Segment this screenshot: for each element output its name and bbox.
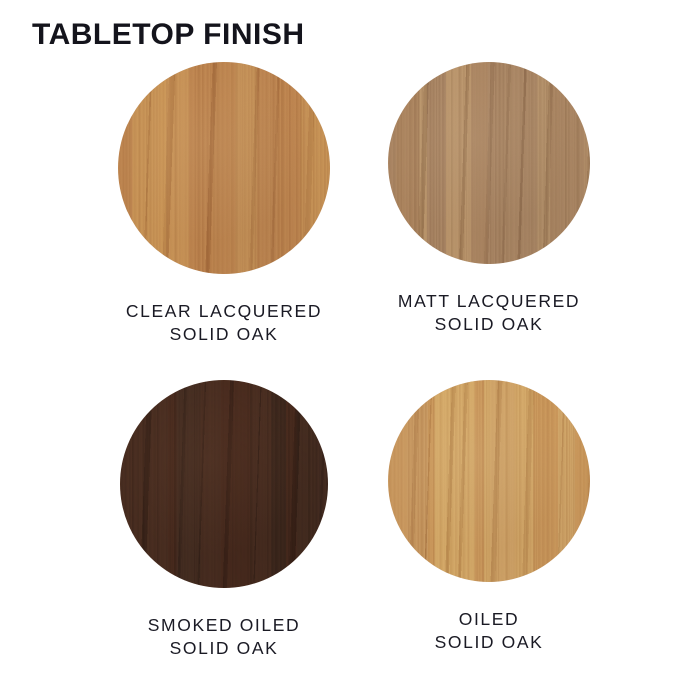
swatch-label-line2: SOLID OAK — [398, 313, 580, 336]
wood-swatch-clear-lacquered-solid-oak[interactable] — [118, 62, 330, 274]
wood-sheen — [118, 62, 330, 274]
wood-swatch-smoked-oiled-solid-oak[interactable] — [120, 380, 328, 588]
wood-sheen — [388, 380, 590, 582]
swatch-label-line1: MATT LACQUERED — [398, 291, 580, 311]
swatch-label-smoked-oiled-solid-oak: SMOKED OILED SOLID OAK — [148, 614, 300, 660]
wood-sheen — [120, 380, 328, 588]
finish-option-matt-lacquered-solid-oak[interactable]: MATT LACQUERED SOLID OAK — [314, 62, 664, 336]
finish-swatch-grid: CLEAR LACQUERED SOLID OAK MATT LACQUERED… — [0, 62, 700, 682]
wood-swatch-matt-lacquered-solid-oak[interactable] — [388, 62, 590, 264]
swatch-label-matt-lacquered-solid-oak: MATT LACQUERED SOLID OAK — [398, 290, 580, 336]
finish-option-oiled-solid-oak[interactable]: OILED SOLID OAK — [314, 380, 664, 654]
wood-sheen — [388, 62, 590, 264]
swatch-label-line2: SOLID OAK — [126, 323, 322, 346]
tabletop-finish-page: TABLETOP FINISH CLEAR LACQUERED SOLID OA… — [0, 0, 700, 700]
wood-swatch-oiled-solid-oak[interactable] — [388, 380, 590, 582]
swatch-label-line1: SMOKED OILED — [148, 615, 300, 635]
page-title: TABLETOP FINISH — [32, 18, 305, 52]
swatch-label-oiled-solid-oak: OILED SOLID OAK — [435, 608, 544, 654]
swatch-label-line2: SOLID OAK — [435, 631, 544, 654]
swatch-label-line2: SOLID OAK — [148, 637, 300, 660]
swatch-label-line1: CLEAR LACQUERED — [126, 301, 322, 321]
swatch-label-line1: OILED — [459, 609, 520, 629]
swatch-label-clear-lacquered-solid-oak: CLEAR LACQUERED SOLID OAK — [126, 300, 322, 346]
